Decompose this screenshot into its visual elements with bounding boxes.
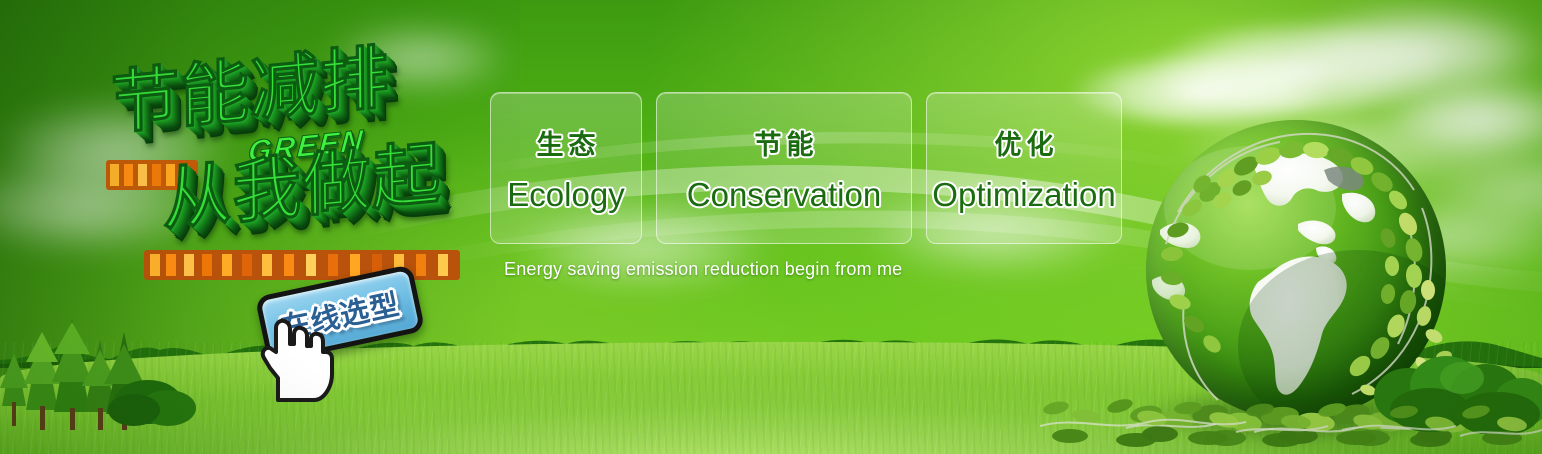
vignette-overlay	[0, 0, 1542, 454]
eco-hero-banner: 节能减排 GREEN 从我做起 在线选型 生态 Ecology 节能 Conse…	[0, 0, 1542, 454]
